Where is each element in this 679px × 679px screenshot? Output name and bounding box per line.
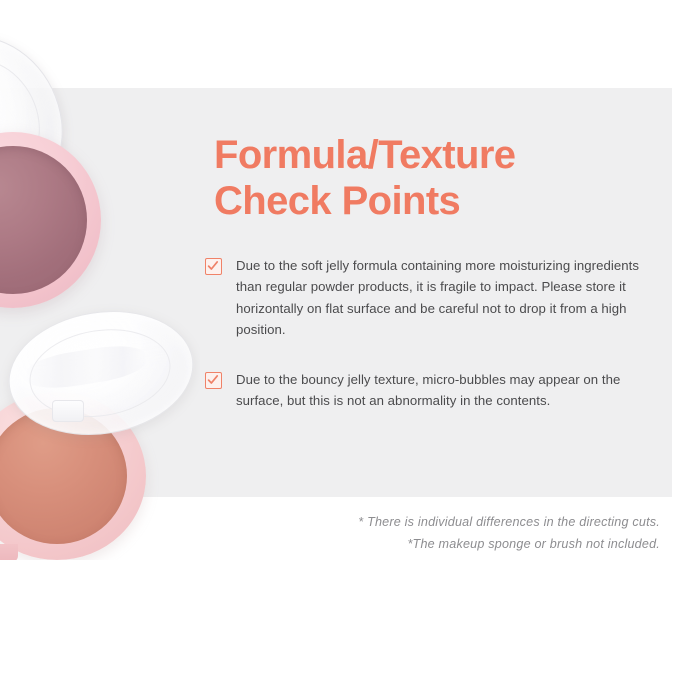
footnote-line: *The makeup sponge or brush not included… xyxy=(205,534,660,556)
check-point-text: Due to the soft jelly formula containing… xyxy=(236,255,665,341)
page-title-line-1: Formula/Texture xyxy=(214,133,654,179)
footnote-line: * There is individual differences in the… xyxy=(205,512,660,534)
content-column: Formula/Texture Check Points Due to the … xyxy=(205,0,679,679)
page-title: Formula/Texture Check Points xyxy=(214,133,654,224)
checkbox-checked-icon xyxy=(205,372,222,389)
page-title-line-2: Check Points xyxy=(214,179,654,225)
footnote-group: * There is individual differences in the… xyxy=(205,512,660,555)
compact-notch xyxy=(0,544,18,560)
check-point-text: Due to the bouncy jelly texture, micro-b… xyxy=(236,369,665,412)
product-detail-page: Formula/Texture Check Points Due to the … xyxy=(0,0,679,679)
check-points-list: Due to the soft jelly formula containing… xyxy=(205,255,665,439)
list-item: Due to the bouncy jelly texture, micro-b… xyxy=(205,369,665,412)
list-item: Due to the soft jelly formula containing… xyxy=(205,255,665,341)
checkbox-checked-icon xyxy=(205,258,222,275)
